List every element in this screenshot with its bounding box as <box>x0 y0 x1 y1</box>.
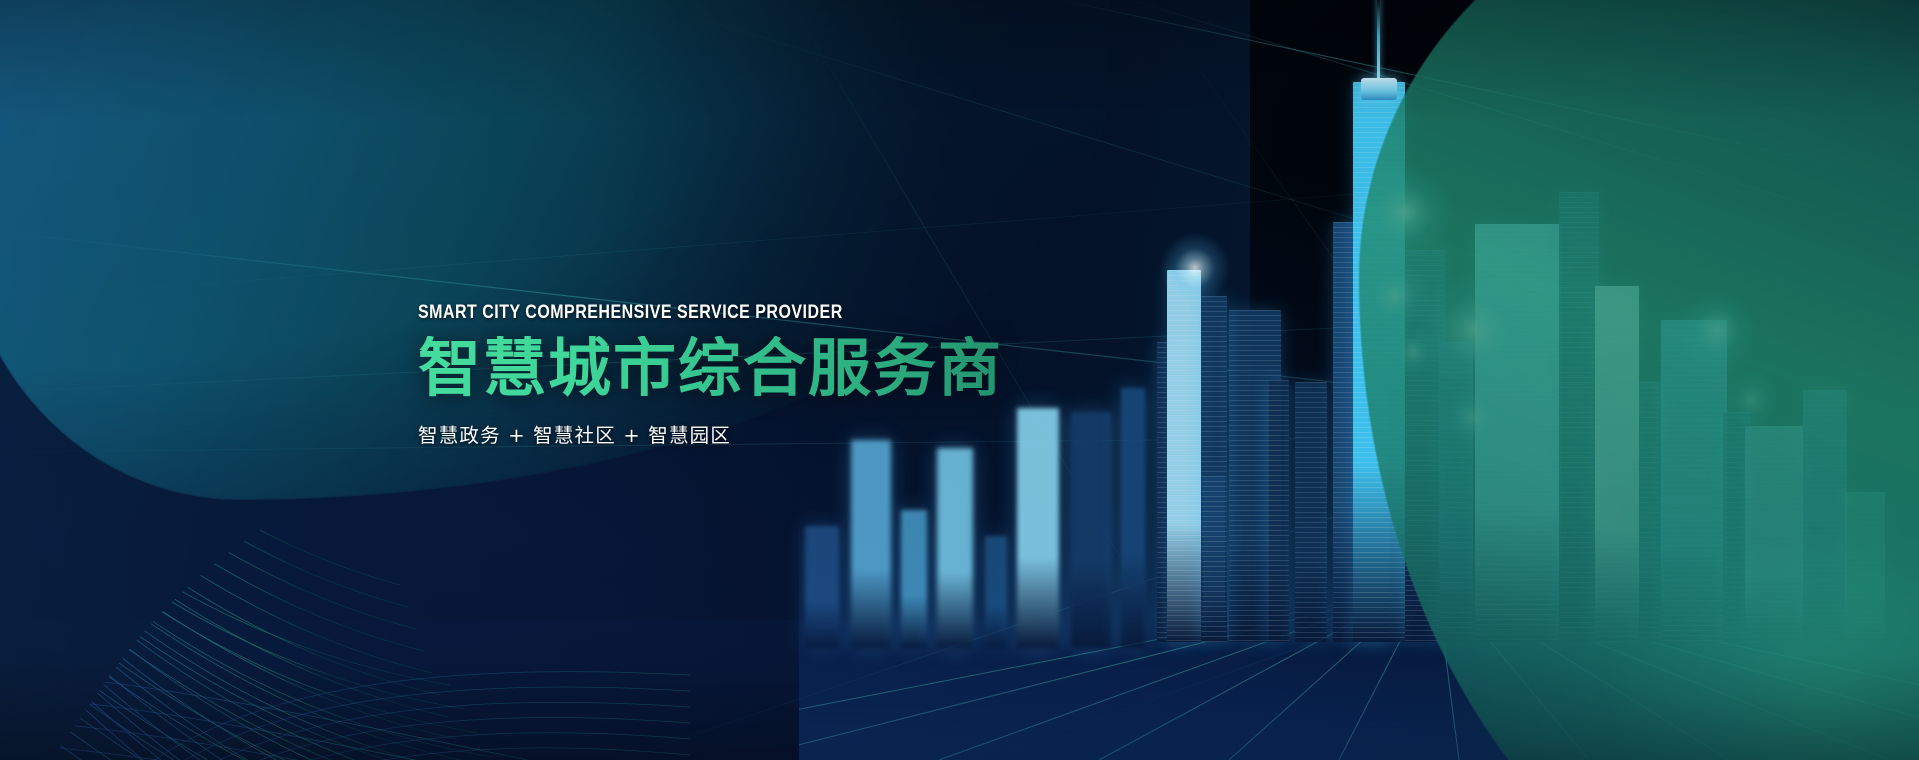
skyscraper <box>1167 270 1201 642</box>
page-title: 智慧城市综合服务商 <box>418 336 1118 402</box>
smart-city-hero-banner: SMART CITY COMPREHENSIVE SERVICE PROVIDE… <box>0 0 1919 760</box>
skyscraper <box>1295 382 1327 642</box>
foreground-block <box>985 536 1007 648</box>
right-green-swoosh <box>1359 0 1919 760</box>
foreground-block <box>1121 388 1145 648</box>
skyscraper <box>1201 296 1227 642</box>
tower-antenna-icon <box>1377 0 1380 82</box>
foreground-block <box>805 526 839 648</box>
foreground-block <box>937 448 973 648</box>
hero-subline-text: 智慧政务 + 智慧社区 + 智慧园区 <box>418 419 1118 448</box>
hero-eyebrow-text: SMART CITY COMPREHENSIVE SERVICE PROVIDE… <box>418 303 992 323</box>
foreground-block <box>901 510 927 648</box>
skyscraper <box>1269 380 1289 642</box>
tower-crown-icon <box>1361 78 1397 100</box>
foreground-block <box>851 440 891 648</box>
hero-copy-block: SMART CITY COMPREHENSIVE SERVICE PROVIDE… <box>418 303 1118 448</box>
